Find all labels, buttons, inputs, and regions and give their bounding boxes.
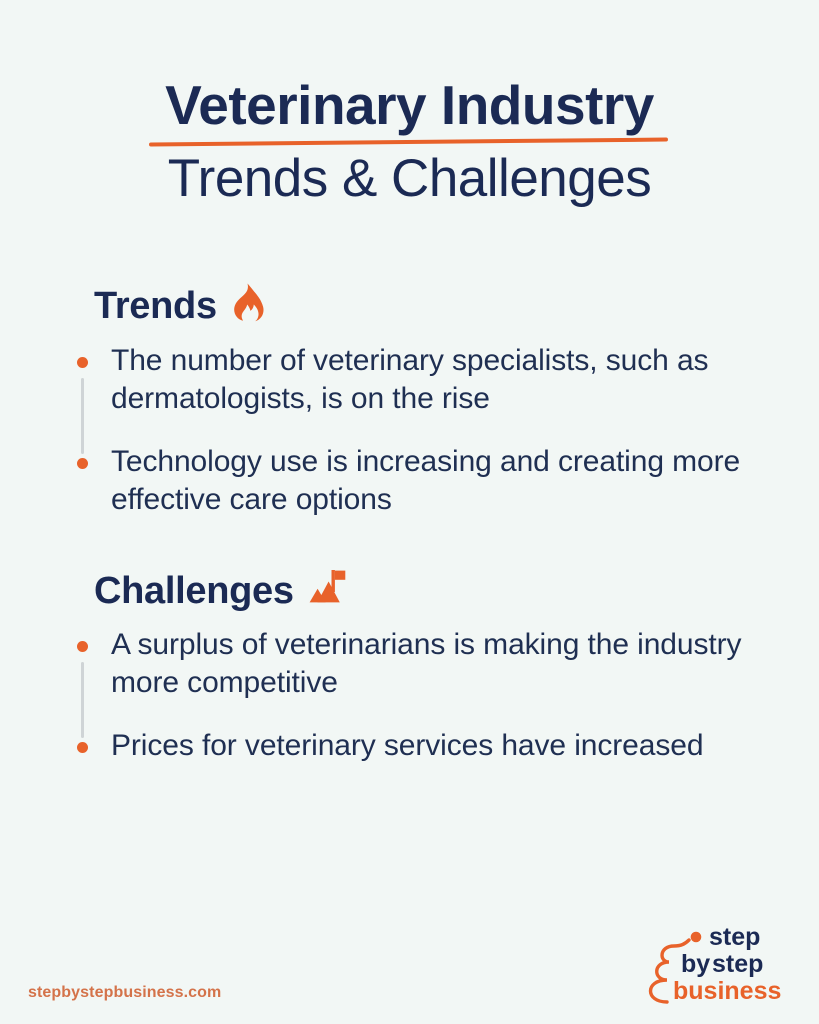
- logo-line-business: business: [673, 977, 781, 1004]
- flame-icon: [230, 282, 264, 332]
- bullet-dot-icon: [77, 357, 88, 368]
- logo-line-step: step: [709, 923, 760, 951]
- brand-logo: step by step business: [633, 918, 793, 1004]
- logo-line-by: by: [681, 950, 710, 978]
- section-challenges: Challenges A surplus of veterinarians is…: [72, 568, 772, 765]
- section-trends-heading-label: Trends: [94, 286, 217, 328]
- title-underline-accent: [149, 138, 668, 147]
- page-title: Veterinary Industry: [159, 78, 660, 137]
- list-item-text: The number of veterinary specialists, su…: [111, 342, 751, 419]
- bullet-dot-icon: [77, 742, 88, 753]
- list-item: Technology use is increasing and creatin…: [72, 443, 772, 520]
- list-item: The number of veterinary specialists, su…: [72, 342, 772, 419]
- mountain-flag-icon: [307, 568, 347, 616]
- logo-line-step2: step: [712, 950, 763, 978]
- list-item-text: Technology use is increasing and creatin…: [111, 443, 751, 520]
- infographic-canvas: Veterinary Industry Trends & Challenges …: [0, 0, 819, 1024]
- site-url: stepbystepbusiness.com: [28, 984, 221, 1002]
- trends-bullet-list: The number of veterinary specialists, su…: [72, 342, 772, 520]
- list-item-text: A surplus of veterinarians is making the…: [111, 626, 751, 703]
- challenges-bullet-list: A surplus of veterinarians is making the…: [72, 626, 772, 765]
- section-challenges-heading-label: Challenges: [94, 571, 294, 613]
- bullet-dot-icon: [77, 641, 88, 652]
- section-challenges-heading: Challenges: [94, 568, 772, 616]
- bullet-dot-icon: [77, 458, 88, 469]
- section-trends: Trends The number of veterinary speciali…: [72, 282, 772, 519]
- list-item-text: Prices for veterinary services have incr…: [111, 727, 703, 765]
- page-title-text: Veterinary Industry: [165, 74, 654, 136]
- section-trends-heading: Trends: [94, 282, 772, 332]
- list-item: A surplus of veterinarians is making the…: [72, 626, 772, 703]
- list-item: Prices for veterinary services have incr…: [72, 727, 772, 765]
- page-subtitle: Trends & Challenges: [0, 151, 819, 207]
- title-block: Veterinary Industry Trends & Challenges: [0, 78, 819, 207]
